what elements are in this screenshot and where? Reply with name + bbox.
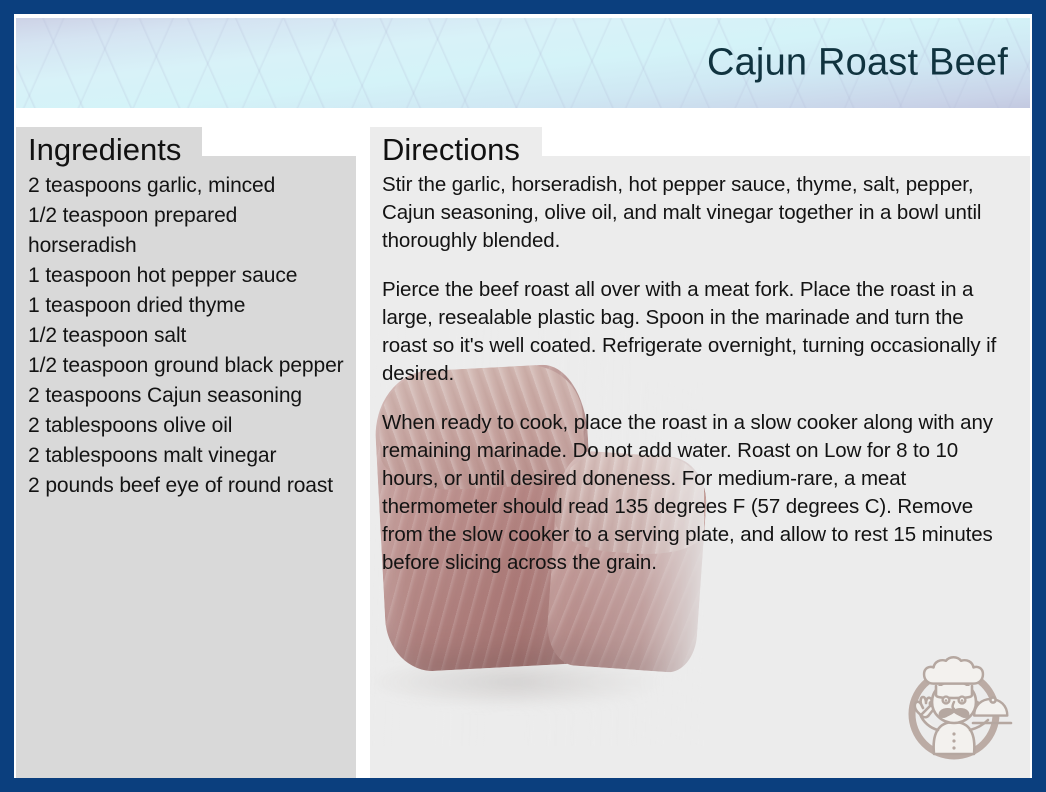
page-title: Cajun Roast Beef bbox=[707, 42, 1008, 85]
direction-step: When ready to cook, place the roast in a… bbox=[382, 409, 1012, 577]
direction-step: Pierce the beef roast all over with a me… bbox=[382, 276, 1012, 388]
list-item: 1/2 teaspoon prepared horseradish bbox=[28, 201, 346, 261]
chef-mascot-logo bbox=[890, 642, 1018, 770]
header-banner: Cajun Roast Beef bbox=[16, 18, 1030, 108]
list-item: 1 teaspoon dried thyme bbox=[28, 291, 346, 321]
directions-panel: Directions Stir the garlic, horseradish,… bbox=[370, 127, 1030, 778]
list-item: 1/2 teaspoon salt bbox=[28, 321, 346, 351]
ingredients-panel: Ingredients 2 teaspoons garlic, minced 1… bbox=[16, 127, 356, 778]
list-item: 2 teaspoons garlic, minced bbox=[28, 171, 346, 201]
directions-tab-label: Directions bbox=[370, 127, 542, 173]
direction-step: Stir the garlic, horseradish, hot pepper… bbox=[382, 171, 1012, 255]
list-item: 2 tablespoons malt vinegar bbox=[28, 441, 346, 471]
ingredient-list: 2 teaspoons garlic, minced 1/2 teaspoon … bbox=[28, 171, 346, 501]
list-item: 1/2 teaspoon ground black pepper bbox=[28, 351, 346, 381]
list-item: 2 teaspoons Cajun seasoning bbox=[28, 381, 346, 411]
ingredients-tab-label: Ingredients bbox=[16, 127, 202, 173]
list-item: 2 tablespoons olive oil bbox=[28, 411, 346, 441]
list-item: 1 teaspoon hot pepper sauce bbox=[28, 261, 346, 291]
list-item: 2 pounds beef eye of round roast bbox=[28, 471, 346, 501]
recipe-card-page: Cajun Roast Beef Ingredients 2 teaspoons… bbox=[0, 0, 1046, 792]
directions-steps: Stir the garlic, horseradish, hot pepper… bbox=[382, 171, 1012, 577]
content-panels: Ingredients 2 teaspoons garlic, minced 1… bbox=[16, 127, 1030, 778]
